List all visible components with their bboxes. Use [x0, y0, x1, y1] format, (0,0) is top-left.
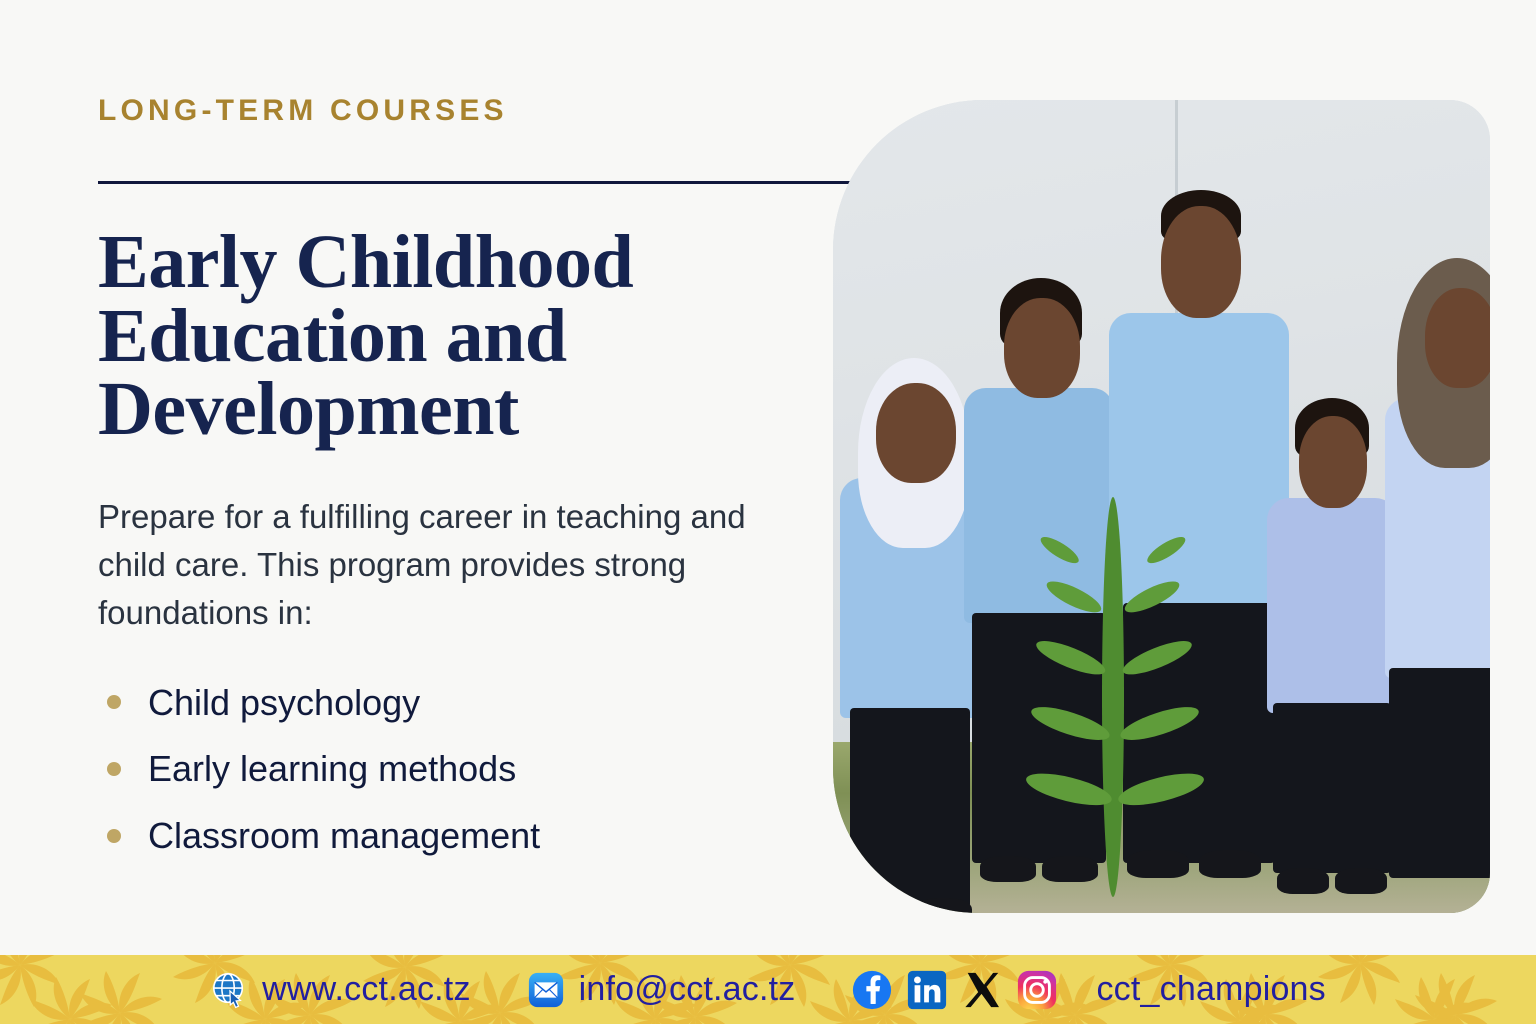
envelope-icon	[527, 971, 565, 1009]
uniform-skirt	[1273, 703, 1391, 873]
footer-social: cct_champions	[851, 969, 1325, 1011]
x-icon[interactable]	[961, 969, 1003, 1011]
student-head	[1425, 288, 1490, 388]
facebook-icon[interactable]	[851, 969, 893, 1011]
uniform-shirt	[1267, 498, 1397, 713]
student-shoe	[854, 898, 912, 913]
website-label: www.cct.ac.tz	[262, 970, 471, 1009]
list-item-label: Classroom management	[148, 816, 540, 856]
student-head	[876, 383, 956, 483]
contact-footer: www.cct.ac.tz info@cct	[0, 955, 1536, 1024]
student-shoe	[980, 856, 1036, 882]
intro-paragraph: Prepare for a fulfilling career in teach…	[98, 493, 798, 637]
bullet-dot-icon	[107, 695, 121, 709]
students-photo	[833, 100, 1490, 913]
student-head	[1004, 298, 1080, 398]
instagram-icon[interactable]	[1016, 969, 1058, 1011]
list-item: Classroom management	[98, 816, 888, 856]
footer-website[interactable]: www.cct.ac.tz	[210, 970, 471, 1009]
uniform-skirt	[850, 708, 970, 908]
footer-email[interactable]: info@cct.ac.tz	[527, 970, 796, 1009]
divider-rule	[98, 181, 878, 184]
course-poster: LONG-TERM COURSES Early Childhood Educat…	[0, 0, 1536, 1024]
content-column: LONG-TERM COURSES Early Childhood Educat…	[98, 96, 888, 882]
list-item-label: Early learning methods	[148, 749, 516, 789]
student-figure	[1267, 248, 1397, 848]
eyebrow-label: LONG-TERM COURSES	[98, 96, 888, 126]
student-shoe	[914, 898, 972, 913]
student-head	[1299, 416, 1367, 508]
uniform-skirt	[1389, 668, 1490, 878]
student-figure	[840, 208, 980, 848]
linkedin-icon[interactable]	[906, 969, 948, 1011]
list-item-label: Child psychology	[148, 683, 420, 723]
social-handle-label: cct_champions	[1096, 970, 1325, 1009]
student-shoe	[1335, 868, 1387, 894]
list-item: Early learning methods	[98, 749, 888, 789]
list-item: Child psychology	[98, 683, 888, 723]
globe-icon	[210, 971, 248, 1009]
photo-image	[833, 100, 1490, 913]
feature-list: Child psychology Early learning methods …	[98, 683, 888, 856]
student-figure	[1385, 148, 1490, 848]
email-label: info@cct.ac.tz	[579, 970, 796, 1009]
plant-foreground	[1030, 497, 1200, 897]
student-shoe	[1199, 850, 1261, 878]
page-title: Early Childhood Education and Developmen…	[98, 226, 738, 447]
bullet-dot-icon	[107, 762, 121, 776]
footer-content: www.cct.ac.tz info@cct	[0, 955, 1536, 1024]
student-shoe	[1277, 868, 1329, 894]
bullet-dot-icon	[107, 829, 121, 843]
student-head	[1161, 206, 1241, 318]
